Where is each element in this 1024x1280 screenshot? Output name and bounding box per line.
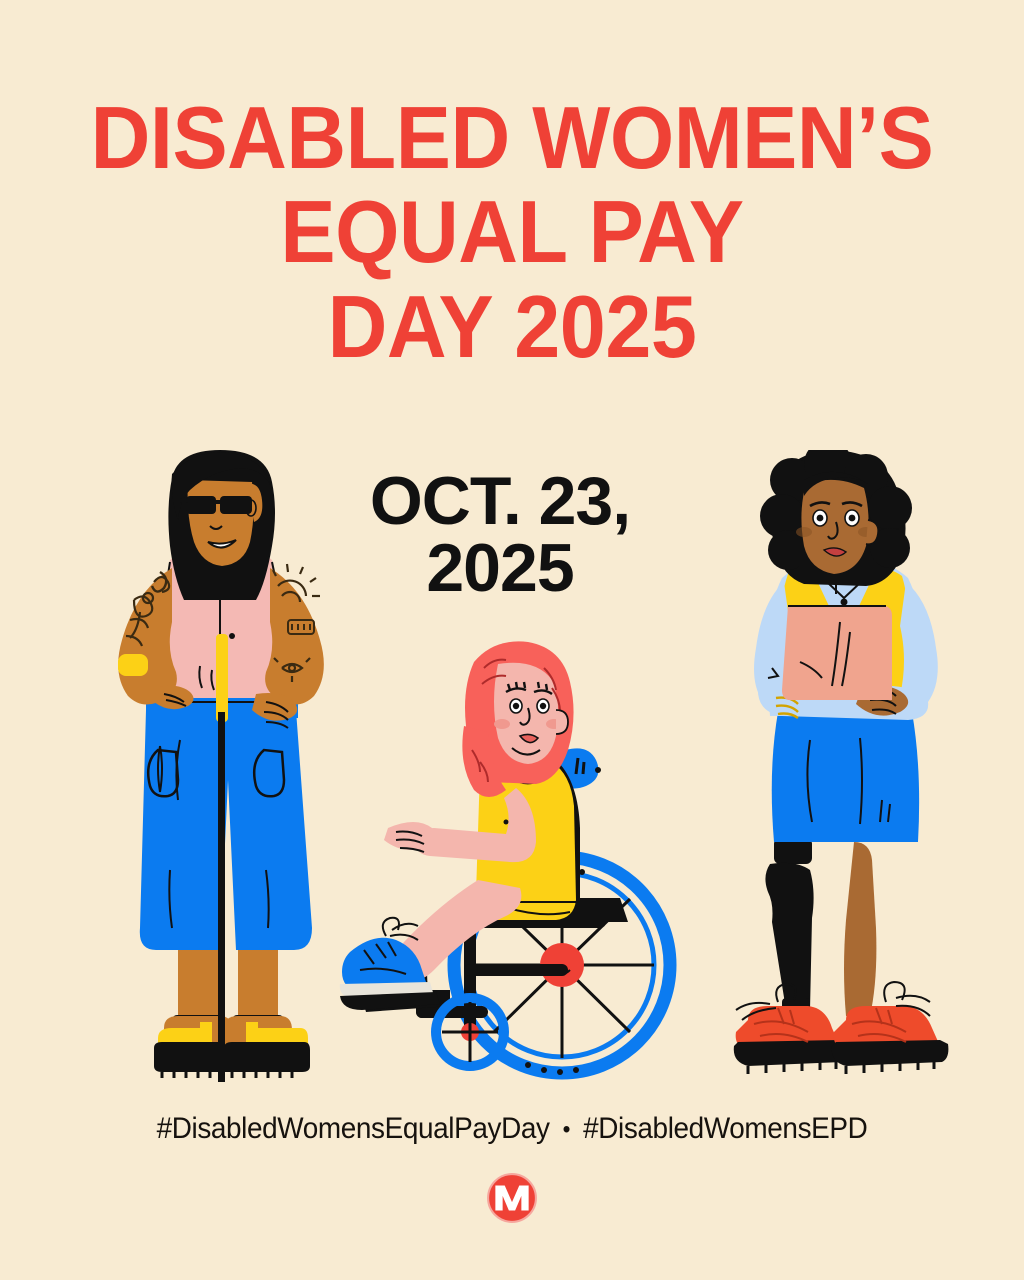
figure-wheelchair-user	[330, 640, 730, 1090]
title-line-2: EQUAL PAY	[31, 190, 994, 284]
face	[494, 663, 558, 764]
figure-blind-woman-with-cane	[60, 450, 360, 1090]
blue-skirt	[772, 712, 919, 842]
legs	[844, 842, 876, 1016]
hashtag-separator: •	[550, 1116, 583, 1143]
platform-sandals-icon	[154, 1015, 310, 1078]
face	[801, 480, 868, 574]
shoelaces	[383, 918, 418, 940]
figure-amputee-woman	[700, 450, 1000, 1090]
hand	[384, 822, 436, 850]
red-boots-icon	[734, 982, 949, 1074]
logo-container	[0, 1172, 1024, 1229]
momsrising-m-logo[interactable]	[486, 1172, 538, 1224]
hashtag-secondary[interactable]: #DisabledWomensEPD	[583, 1112, 867, 1145]
head	[168, 450, 275, 600]
illustration-group	[0, 440, 1024, 1100]
prosthetic-leg	[765, 838, 813, 1024]
hashtag-primary[interactable]: #DisabledWomensEqualPayDay	[157, 1112, 550, 1145]
poster-canvas: DISABLED WOMEN’S EQUAL PAY DAY 2025 OCT.…	[0, 0, 1024, 1280]
salmon-folder	[782, 606, 892, 700]
head	[760, 450, 912, 594]
title-line-3: DAY 2025	[31, 285, 994, 379]
wheelchair-caster	[436, 998, 504, 1066]
title-line-1: DISABLED WOMEN’S	[31, 96, 994, 190]
page-title: DISABLED WOMEN’S EQUAL PAY DAY 2025	[0, 96, 1024, 379]
hashtag-footer: #DisabledWomensEqualPayDay•#DisabledWome…	[36, 1112, 988, 1146]
